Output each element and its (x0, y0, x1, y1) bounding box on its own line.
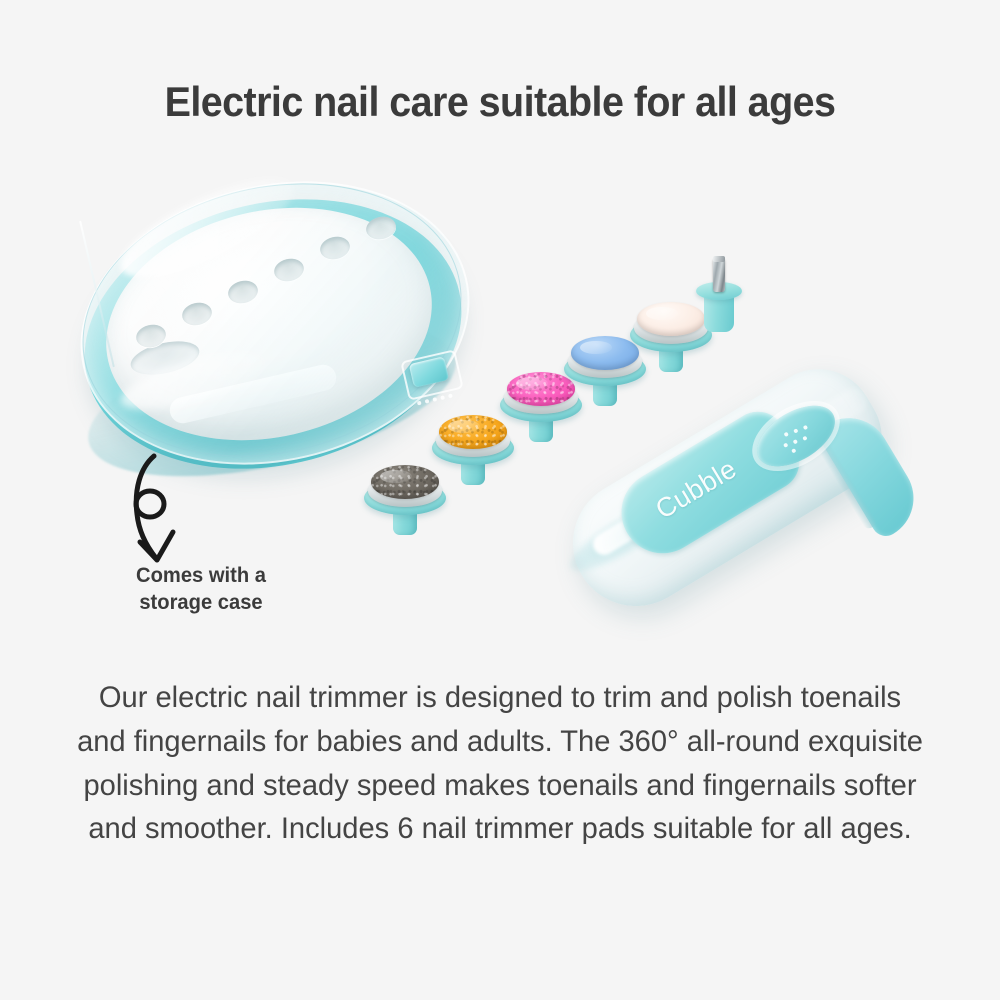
product-description: Our electric nail trimmer is designed to… (75, 676, 925, 851)
handle-body: Cubble (548, 370, 908, 620)
bit-tip (713, 256, 725, 262)
description-paragraph: Our electric nail trimmer is designed to… (75, 676, 925, 851)
curly-arrow-down-icon (110, 450, 220, 570)
nail-trimmer-handle[interactable]: Cubble (548, 370, 908, 620)
product-marketing-page: Electric nail care suitable for all ages (0, 0, 1000, 1000)
storage-case (78, 185, 468, 475)
bit-metal-shaft (713, 258, 725, 292)
callout-line-2: storage case (91, 589, 312, 616)
pad-surface (439, 415, 508, 449)
callout-label: Comes with a storage case (91, 562, 312, 617)
callout-line-1: Comes with a (91, 562, 312, 589)
attachment-metal-bit[interactable] (696, 256, 742, 336)
pad-surface (371, 465, 440, 499)
page-title: Electric nail care suitable for all ages (30, 78, 970, 126)
product-hero-image: Cubble Comes with (0, 160, 1000, 660)
callout-storage-case: Comes with a storage case (86, 450, 346, 630)
